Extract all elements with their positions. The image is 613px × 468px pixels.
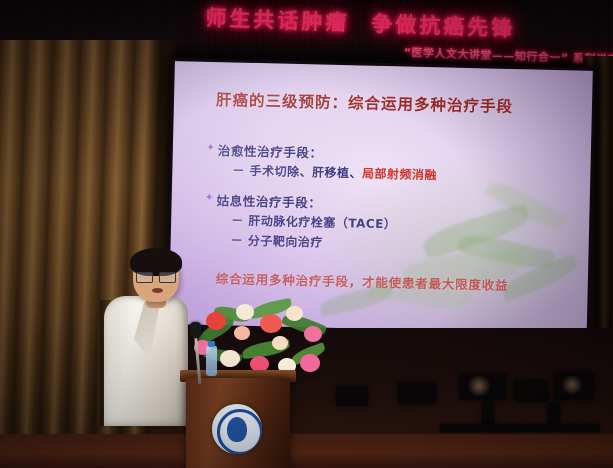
sub-item-prefix: －	[231, 233, 249, 247]
led-banner-headline: 师生共话肿瘤争做抗癌先锋	[205, 2, 516, 43]
stage-light-glow	[560, 376, 584, 394]
institution-emblem-icon	[212, 404, 262, 454]
sub-item-prefix: －	[232, 163, 250, 177]
slide-bullet-list: ✦ 治愈性治疗手段： － 手术切除、肝移植、局部射频消融 ✦ 姑息性治疗手段： …	[200, 140, 573, 260]
lecture-photo-scene: 师生共话肿瘤争做抗癌先锋 “医学人文大讲堂——知行合一” 系列讲座第二 肝癌的三…	[0, 0, 613, 468]
diamond-bullet-icon: ✦	[202, 190, 217, 206]
flower-bloom	[234, 326, 250, 340]
sub-item-highlight: 局部射频消融	[362, 167, 437, 183]
led-headline-part1: 师生共话肿瘤	[205, 6, 350, 35]
projection-screen: 肝癌的三级预防：综合运用多种治疗手段 ✦ 治愈性治疗手段： － 手术切除、肝移植…	[169, 61, 593, 334]
stage-equipment-rail	[440, 424, 600, 432]
led-headline-part2: 争做抗癌先锋	[371, 12, 516, 41]
stage-light-fixture	[398, 382, 436, 404]
speaker-lab-coat	[104, 296, 188, 426]
sub-item-text: 手术切除、肝移植、	[249, 164, 362, 181]
flower-bloom	[206, 312, 226, 330]
eyeglasses-icon	[136, 272, 176, 281]
bullet-heading: 治愈性治疗手段：	[218, 140, 323, 161]
stage-light-glow	[466, 376, 492, 396]
water-bottle	[206, 346, 217, 376]
microphone-icon	[190, 322, 201, 338]
stage-light-fixture	[336, 386, 368, 406]
flower-bloom	[272, 336, 288, 350]
stage-light-fixture	[514, 380, 548, 402]
flower-bloom	[304, 326, 322, 342]
flower-bloom	[300, 354, 320, 372]
sub-item-prefix: －	[231, 213, 249, 227]
slide-title: 肝癌的三级预防：综合运用多种治疗手段	[216, 88, 513, 117]
sub-item-text: 分子靶向治疗	[248, 234, 323, 250]
flower-bloom	[220, 350, 240, 367]
coat-lapel	[134, 302, 160, 360]
flower-bloom	[260, 314, 282, 333]
stage-floor	[0, 434, 613, 468]
flower-bloom	[236, 304, 254, 320]
sub-item-text: 肝动脉化疗栓塞（TACE）	[248, 214, 396, 231]
diamond-bullet-icon: ✦	[203, 140, 218, 156]
speaker-mouth	[152, 288, 163, 293]
bullet-heading: 姑息性治疗手段：	[216, 190, 321, 211]
flower-bloom	[286, 306, 303, 321]
